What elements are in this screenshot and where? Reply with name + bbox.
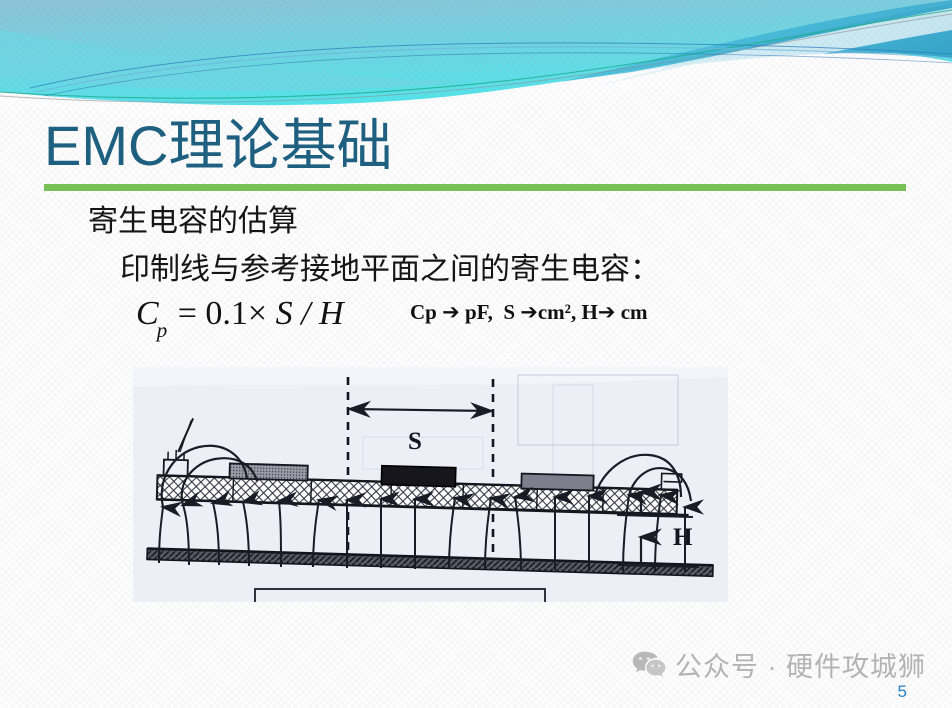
slide: EMC理论基础 寄生电容的估算 印制线与参考接地平面之间的寄生电容： Cp = … [0, 0, 952, 708]
component-center [381, 466, 456, 487]
page-title: EMC理论基础 [44, 114, 392, 178]
arrow-icon: ➔ [598, 300, 616, 324]
unit-item-s-unit: cm² [538, 300, 571, 324]
capacitance-formula: Cp = 0.1× S / H [136, 294, 344, 345]
formula-divider: / [301, 295, 310, 332]
formula-denominator: H [319, 295, 344, 332]
page-number: 5 [898, 682, 907, 702]
units-comma-1: , [488, 300, 499, 324]
formula-lhs-subscript: p [157, 318, 168, 342]
title-underline-rule [44, 184, 906, 191]
footer-text: 公众号 · 硬件攻城狮 [675, 645, 926, 684]
footer-brand: 公众号 · 硬件攻城狮 [632, 645, 926, 684]
figure-label-s: S [408, 428, 422, 455]
formula-times-operator: × [248, 295, 267, 332]
unit-item-cp-symbol: Cp [410, 300, 437, 324]
unit-item-s-symbol: S [503, 300, 515, 324]
formula-numerator: S [276, 295, 293, 332]
wechat-icon [632, 651, 666, 679]
formula-equals: = [178, 295, 197, 332]
header-decoration-band [0, 0, 952, 130]
formula-lhs-var: C [136, 295, 159, 332]
figure-label-h: H [673, 524, 693, 551]
component-right [521, 474, 593, 491]
parasitic-capacitance-figure: S [133, 367, 728, 602]
arrow-icon: ➔ [442, 300, 460, 324]
arrow-icon: ➔ [520, 300, 538, 324]
units-comma-2: , [571, 300, 576, 324]
unit-item-h-unit: cm [621, 300, 648, 324]
unit-item-h-symbol: H [581, 300, 597, 324]
content-subheading: 印制线与参考接地平面之间的寄生电容： [120, 251, 660, 289]
content-heading: 寄生电容的估算 [88, 203, 298, 241]
units-note: Cp ➔ pF, S ➔cm², H➔ cm [410, 299, 648, 325]
component-left [229, 463, 307, 480]
formula-coefficient: 0.1 [205, 295, 248, 332]
unit-item-cp-unit: pF [465, 300, 488, 324]
